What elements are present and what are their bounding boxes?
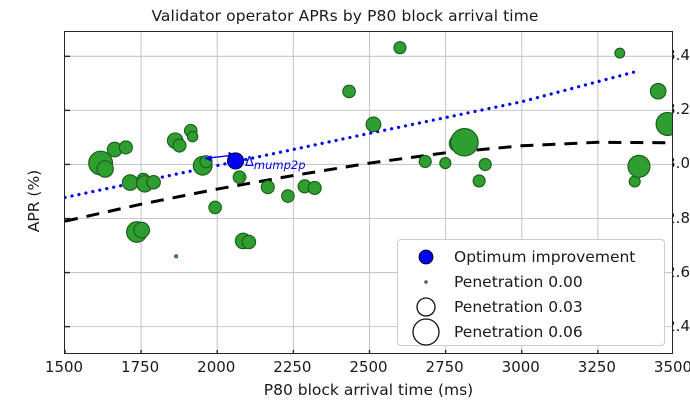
scatter-point bbox=[147, 176, 160, 189]
x-axis-label: P80 block arrival time (ms) bbox=[64, 381, 673, 399]
scatter-point bbox=[394, 42, 406, 54]
x-tick-label: 3500 bbox=[633, 358, 690, 376]
chart-legend: Optimum improvementPenetration 0.00Penet… bbox=[397, 239, 665, 346]
scatter-point bbox=[366, 117, 381, 132]
scatter-point bbox=[479, 158, 491, 170]
scatter-point bbox=[419, 155, 431, 167]
scatter-point bbox=[122, 175, 138, 191]
optimum-marker bbox=[227, 153, 243, 169]
x-tick-label: 2000 bbox=[176, 358, 256, 376]
scatter-point bbox=[343, 85, 356, 98]
x-tick-label: 2750 bbox=[405, 358, 485, 376]
scatter-point bbox=[656, 112, 673, 135]
scatter-point bbox=[173, 139, 186, 152]
x-tick-label: 1750 bbox=[100, 358, 180, 376]
scatter-point bbox=[242, 235, 255, 248]
x-tick-label: 1500 bbox=[24, 358, 104, 376]
delta-mump2p-annotation: Δmump2p bbox=[245, 155, 306, 172]
scatter-point bbox=[440, 158, 451, 169]
scatter-point bbox=[308, 181, 321, 194]
legend-marker bbox=[398, 317, 454, 347]
optimum-improvement-point bbox=[227, 153, 243, 169]
legend-label: Penetration 0.06 bbox=[454, 323, 583, 341]
y-axis-label: APR (%) bbox=[25, 121, 43, 281]
legend-label: Optimum improvement bbox=[454, 248, 635, 266]
scatter-point bbox=[282, 190, 295, 203]
scatter-points bbox=[89, 42, 673, 258]
delta-subscript: mump2p bbox=[254, 158, 306, 172]
chart-title: Validator operator APRs by P80 block arr… bbox=[0, 7, 690, 25]
x-tick-label: 3250 bbox=[557, 358, 637, 376]
scatter-point bbox=[134, 222, 150, 238]
x-tick-label: 2250 bbox=[252, 358, 332, 376]
scatter-point bbox=[650, 83, 666, 99]
scatter-point bbox=[209, 201, 222, 214]
scatter-point bbox=[174, 255, 177, 258]
scatter-point bbox=[473, 175, 485, 187]
scatter-point bbox=[187, 131, 197, 141]
scatter-point bbox=[628, 155, 650, 177]
scatter-point bbox=[97, 161, 113, 177]
scatter-point bbox=[615, 48, 625, 58]
legend-item[interactable]: Penetration 0.06 bbox=[398, 319, 666, 345]
x-tick-label: 3000 bbox=[481, 358, 561, 376]
delta-symbol: Δ bbox=[245, 155, 254, 170]
legend-label: Penetration 0.00 bbox=[454, 273, 583, 291]
scatter-point bbox=[119, 141, 132, 154]
x-tick-label: 2500 bbox=[329, 358, 409, 376]
scatter-point bbox=[261, 181, 274, 194]
scatter-point bbox=[243, 176, 246, 179]
legend-label: Penetration 0.03 bbox=[454, 298, 583, 316]
chart-figure: Validator operator APRs by P80 block arr… bbox=[0, 0, 690, 411]
scatter-point bbox=[451, 129, 478, 156]
